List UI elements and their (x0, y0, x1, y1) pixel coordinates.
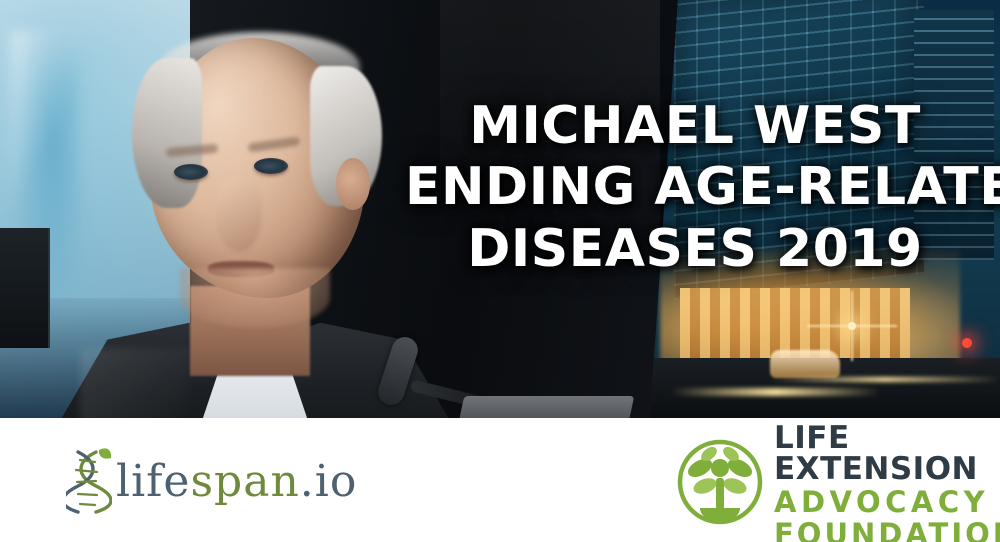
tree-person-circle-icon (676, 438, 764, 534)
street-lamp-starburst (848, 322, 856, 330)
title-line-1: MICHAEL WEST (405, 96, 985, 157)
leaf-line-3: FOUNDATION (774, 520, 1000, 542)
lifespan-word-io: .io (300, 456, 358, 507)
lifespan-wordmark: lifespan.io (116, 456, 357, 507)
dna-helix-leaf-icon (66, 446, 112, 516)
traffic-light-red (962, 338, 972, 348)
lifespan-logo[interactable]: lifespan.io (66, 444, 357, 518)
leaf-line-2: ADVOCACY (774, 488, 1000, 517)
thumbnail-title: MICHAEL WEST ENDING AGE-RELATED DISEASES… (405, 96, 985, 280)
video-thumbnail: MICHAEL WEST ENDING AGE-RELATED DISEASES… (0, 0, 1000, 542)
speaker-jacket-highlight (80, 348, 190, 418)
leaf-logo[interactable]: LIFE EXTENSION ADVOCACY FOUNDATION (676, 436, 1000, 536)
photo-band: MICHAEL WEST ENDING AGE-RELATED DISEASES… (0, 0, 1000, 418)
lifespan-word-life: life (116, 456, 190, 507)
speaker-eye-left (174, 164, 208, 180)
title-line-3: DISEASES 2019 (405, 219, 985, 280)
speaker-ear (336, 158, 370, 210)
speaker-portrait (40, 18, 460, 418)
car (770, 350, 840, 378)
leaf-line-1: LIFE EXTENSION (774, 423, 1000, 485)
logo-band: lifespan.io LIFE EXTENSION ADVOCACY FOUN… (0, 418, 1000, 542)
speaker-nose (216, 176, 262, 252)
leaf-wordmark: LIFE EXTENSION ADVOCACY FOUNDATION (774, 423, 1000, 542)
light-trail (670, 388, 880, 396)
speaker-hair-left (132, 58, 202, 208)
title-line-2: ENDING AGE-RELATED (405, 157, 985, 218)
speaker-chin (180, 268, 330, 328)
light-trail (770, 377, 1000, 382)
speaker-eye-right (254, 158, 288, 174)
lifespan-word-span: span (190, 456, 299, 507)
